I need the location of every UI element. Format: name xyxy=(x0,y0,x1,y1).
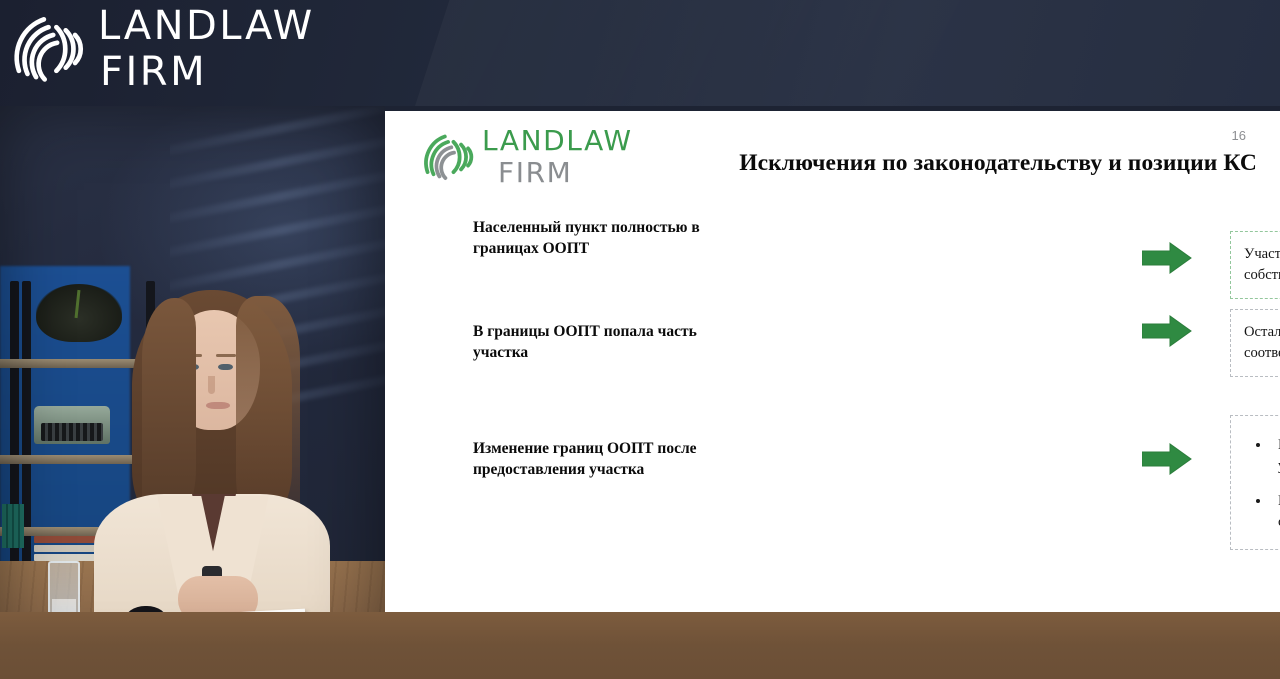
row-outcome-text: Остальная часть участка может использова… xyxy=(1244,324,1280,361)
brand-line-1: LANDLAW xyxy=(98,6,315,46)
row-outcome-box: Остальная часть участка может использова… xyxy=(1230,309,1280,377)
speaker-video-feed[interactable] xyxy=(0,106,385,679)
brand-wordmark: LANDLAW FIRM xyxy=(98,6,315,92)
landlaw-swirl-icon xyxy=(420,130,474,184)
row-outcome-box: Участок может остаться в частной собстве… xyxy=(1230,231,1280,299)
slide-backdrop-bottom xyxy=(0,612,1280,679)
presentation-slide[interactable]: LANDLAW FIRM Исключения по законодательс… xyxy=(385,111,1280,612)
brand-bar-sheen xyxy=(398,0,983,106)
slide-logo-wordmark: LANDLAW FIRM xyxy=(482,127,633,187)
brand-logo: LANDLAW FIRM xyxy=(8,6,315,92)
row-label: Населенный пункт полностью в границах ОО… xyxy=(473,217,735,259)
brand-line-2: FIRM xyxy=(100,52,315,92)
row-outcome-text: Участок может остаться в частной собстве… xyxy=(1244,246,1280,283)
speaker xyxy=(96,284,326,614)
slide-header: LANDLAW FIRM Исключения по законодательс… xyxy=(385,111,1280,201)
slide-logo-line-2: FIRM xyxy=(498,159,633,187)
top-brand-bar: LANDLAW FIRM xyxy=(0,0,1280,106)
list-item: Если границы сократились незаконно – уча… xyxy=(1244,435,1280,477)
slide-page-number: 16 xyxy=(1232,128,1246,143)
landlaw-swirl-icon xyxy=(8,10,86,88)
row-outcome-box: Если границы сократились незаконно – уча… xyxy=(1230,415,1280,550)
right-arrow-icon xyxy=(1142,315,1192,347)
green-books-decor xyxy=(2,504,24,548)
bullet-point-icon xyxy=(1256,499,1260,503)
slide-logo: LANDLAW FIRM xyxy=(420,127,633,187)
row-label: Изменение границ ООПТ после предоставлен… xyxy=(473,438,703,480)
slide-title: Исключения по законодательству и позиции… xyxy=(657,150,1257,177)
right-arrow-icon xyxy=(1142,443,1192,475)
slide-logo-line-1: LANDLAW xyxy=(482,127,633,155)
bullet-point-icon xyxy=(1256,443,1260,447)
list-item: Если изменения обоснованы – право собств… xyxy=(1244,491,1280,533)
row-label: В границы ООПТ попала часть участка xyxy=(473,321,735,363)
right-arrow-icon xyxy=(1142,242,1192,274)
outcome-bullet-list: Если границы сократились незаконно – уча… xyxy=(1244,435,1280,533)
screen: LANDLAW FIRM xyxy=(0,0,1280,679)
